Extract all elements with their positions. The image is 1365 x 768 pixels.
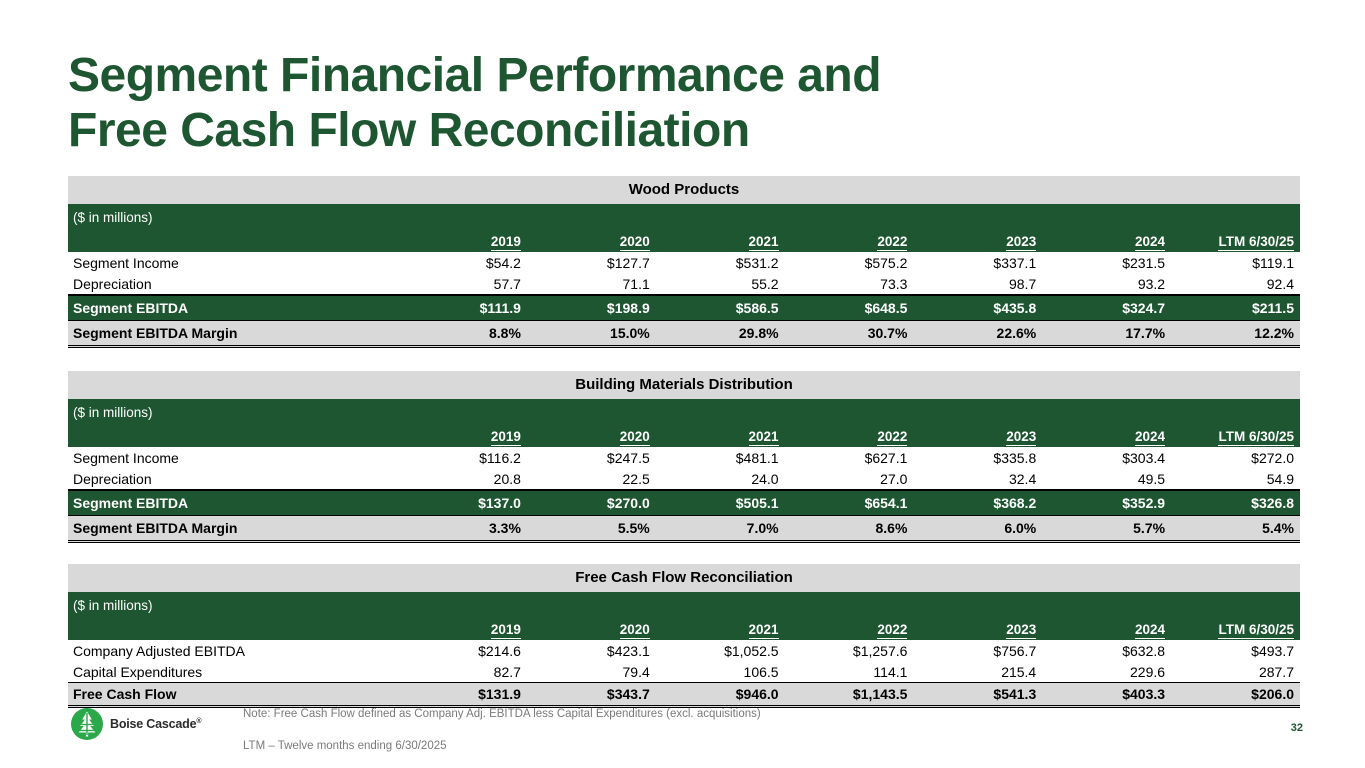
column-header-2022: 2022 — [785, 425, 914, 447]
cell-value: $352.9 — [1042, 490, 1171, 516]
units-label: ($ in millions) — [68, 399, 1300, 425]
column-header-label: 2020 — [620, 234, 650, 251]
column-header-2021: 2021 — [656, 230, 785, 252]
column-header-label: 2022 — [877, 234, 907, 251]
cell-value: $116.2 — [398, 447, 527, 468]
cell-value: 12.2% — [1171, 321, 1300, 347]
cell-value: 22.5 — [527, 468, 656, 490]
section-header-free-cash-flow-reconciliation: Free Cash Flow Reconciliation — [68, 564, 1300, 592]
financial-table-wood-products: ($ in millions)201920202021202220232024L… — [68, 204, 1300, 348]
cell-value: $214.6 — [398, 640, 527, 661]
cell-value: $247.5 — [527, 447, 656, 468]
column-header-label: 2023 — [1006, 429, 1036, 446]
cell-value: $326.8 — [1171, 490, 1300, 516]
cell-value: $127.7 — [527, 252, 656, 273]
table-row: Capital Expenditures82.779.4106.5114.121… — [68, 661, 1300, 683]
cell-value: 229.6 — [1042, 661, 1171, 683]
units-label: ($ in millions) — [68, 592, 1300, 618]
cell-value: $270.0 — [527, 490, 656, 516]
column-header-label: 2024 — [1135, 622, 1165, 639]
column-header-label: LTM 6/30/25 — [1218, 429, 1294, 446]
cell-value: 22.6% — [913, 321, 1042, 347]
cell-value: 114.1 — [785, 661, 914, 683]
cell-value: $648.5 — [785, 295, 914, 321]
cell-value: 73.3 — [785, 273, 914, 295]
cell-value: 54.9 — [1171, 468, 1300, 490]
cell-value: $335.8 — [913, 447, 1042, 468]
cell-value: $946.0 — [656, 683, 785, 707]
cell-value: 32.4 — [913, 468, 1042, 490]
cell-value: 30.7% — [785, 321, 914, 347]
row-label-segment-ebitda: Segment EBITDA — [68, 295, 398, 321]
cell-value: $1,257.6 — [785, 640, 914, 661]
column-header-2021: 2021 — [656, 618, 785, 640]
cell-value: $111.9 — [398, 295, 527, 321]
section-header-wood-products: Wood Products — [68, 176, 1300, 204]
table-column-header-row: 201920202021202220232024LTM 6/30/25 — [68, 425, 1300, 447]
cell-value: 29.8% — [656, 321, 785, 347]
column-header-label: 2019 — [491, 622, 521, 639]
column-header-2022: 2022 — [785, 618, 914, 640]
page-title: Segment Financial Performance and Free C… — [68, 48, 881, 158]
column-header-2019: 2019 — [398, 230, 527, 252]
table-column-header-row: 201920202021202220232024LTM 6/30/25 — [68, 618, 1300, 640]
cell-value: $575.2 — [785, 252, 914, 273]
cell-value: $505.1 — [656, 490, 785, 516]
cell-value: $654.1 — [785, 490, 914, 516]
cell-value: $403.3 — [1042, 683, 1171, 707]
cell-value: $303.4 — [1042, 447, 1171, 468]
column-header-2024: 2024 — [1042, 230, 1171, 252]
column-header-label: 2019 — [491, 429, 521, 446]
section-header-building-materials-distribution: Building Materials Distribution — [68, 371, 1300, 399]
cell-value: 93.2 — [1042, 273, 1171, 295]
column-header-2019: 2019 — [398, 425, 527, 447]
table-row: Free Cash Flow$131.9$343.7$946.0$1,143.5… — [68, 683, 1300, 707]
column-header-ltm-6-30-25: LTM 6/30/25 — [1171, 618, 1300, 640]
cell-value: 55.2 — [656, 273, 785, 295]
column-header-2022: 2022 — [785, 230, 914, 252]
cell-value: $272.0 — [1171, 447, 1300, 468]
column-header-spacer — [68, 230, 398, 252]
cell-value: 215.4 — [913, 661, 1042, 683]
column-header-label: 2022 — [877, 622, 907, 639]
column-header-2024: 2024 — [1042, 618, 1171, 640]
brand-name: Boise Cascade® — [110, 717, 201, 731]
column-header-label: 2022 — [877, 429, 907, 446]
footnote-ltm-definition: LTM – Twelve months ending 6/30/2025 — [243, 740, 447, 752]
page-number: 32 — [1291, 722, 1303, 734]
table-row: Segment EBITDA Margin8.8%15.0%29.8%30.7%… — [68, 321, 1300, 347]
table-column-header-row: 201920202021202220232024LTM 6/30/25 — [68, 230, 1300, 252]
cell-value: 20.8 — [398, 468, 527, 490]
cell-value: $231.5 — [1042, 252, 1171, 273]
cell-value: $131.9 — [398, 683, 527, 707]
table-units-row: ($ in millions) — [68, 399, 1300, 425]
column-header-2020: 2020 — [527, 425, 656, 447]
row-label-capital-expenditures: Capital Expenditures — [68, 661, 398, 683]
column-header-label: 2019 — [491, 234, 521, 251]
column-header-2020: 2020 — [527, 618, 656, 640]
column-header-2020: 2020 — [527, 230, 656, 252]
column-header-ltm-6-30-25: LTM 6/30/25 — [1171, 230, 1300, 252]
cell-value: $206.0 — [1171, 683, 1300, 707]
cell-value: 8.8% — [398, 321, 527, 347]
column-header-2023: 2023 — [913, 425, 1042, 447]
cell-value: 106.5 — [656, 661, 785, 683]
cell-value: $119.1 — [1171, 252, 1300, 273]
cell-value: $423.1 — [527, 640, 656, 661]
cell-value: 8.6% — [785, 516, 914, 542]
column-header-spacer — [68, 618, 398, 640]
cell-value: 27.0 — [785, 468, 914, 490]
table-row: Company Adjusted EBITDA$214.6$423.1$1,05… — [68, 640, 1300, 661]
cell-value: $541.3 — [913, 683, 1042, 707]
financial-table-building-materials-distribution: ($ in millions)201920202021202220232024L… — [68, 399, 1300, 543]
financial-table-free-cash-flow-reconciliation: ($ in millions)201920202021202220232024L… — [68, 592, 1300, 708]
column-header-label: 2024 — [1135, 234, 1165, 251]
cell-value: $343.7 — [527, 683, 656, 707]
row-label-segment-ebitda: Segment EBITDA — [68, 490, 398, 516]
cell-value: $337.1 — [913, 252, 1042, 273]
cell-value: $1,052.5 — [656, 640, 785, 661]
cell-value: $481.1 — [656, 447, 785, 468]
units-label: ($ in millions) — [68, 204, 1300, 230]
cell-value: $586.5 — [656, 295, 785, 321]
column-header-label: LTM 6/30/25 — [1218, 234, 1294, 251]
column-header-2021: 2021 — [656, 425, 785, 447]
column-header-label: 2021 — [749, 429, 779, 446]
section-wood-products: Wood Products($ in millions)201920202021… — [68, 176, 1300, 348]
cell-value: 3.3% — [398, 516, 527, 542]
cell-value: 6.0% — [913, 516, 1042, 542]
column-header-label: 2020 — [620, 622, 650, 639]
cell-value: 5.4% — [1171, 516, 1300, 542]
table-row: Segment Income$116.2$247.5$481.1$627.1$3… — [68, 447, 1300, 468]
column-header-label: 2021 — [749, 234, 779, 251]
cell-value: $324.7 — [1042, 295, 1171, 321]
cell-value: 82.7 — [398, 661, 527, 683]
brand-logo: Boise Cascade® — [70, 707, 201, 741]
cell-value: 287.7 — [1171, 661, 1300, 683]
cell-value: 24.0 — [656, 468, 785, 490]
column-header-2024: 2024 — [1042, 425, 1171, 447]
column-header-spacer — [68, 425, 398, 447]
cell-value: 92.4 — [1171, 273, 1300, 295]
cell-value: 7.0% — [656, 516, 785, 542]
row-label-segment-income: Segment Income — [68, 447, 398, 468]
table-row: Segment EBITDA Margin3.3%5.5%7.0%8.6%6.0… — [68, 516, 1300, 542]
cell-value: 15.0% — [527, 321, 656, 347]
cell-value: 49.5 — [1042, 468, 1171, 490]
row-label-segment-income: Segment Income — [68, 252, 398, 273]
column-header-label: 2023 — [1006, 234, 1036, 251]
cell-value: $137.0 — [398, 490, 527, 516]
cell-value: $493.7 — [1171, 640, 1300, 661]
cell-value: 5.5% — [527, 516, 656, 542]
table-units-row: ($ in millions) — [68, 592, 1300, 618]
row-label-depreciation: Depreciation — [68, 468, 398, 490]
cell-value: $531.2 — [656, 252, 785, 273]
cell-value: $756.7 — [913, 640, 1042, 661]
table-row: Depreciation57.771.155.273.398.793.292.4 — [68, 273, 1300, 295]
cell-value: $1,143.5 — [785, 683, 914, 707]
cell-value: 71.1 — [527, 273, 656, 295]
cell-value: 98.7 — [913, 273, 1042, 295]
table-row: Segment Income$54.2$127.7$531.2$575.2$33… — [68, 252, 1300, 273]
row-label-company-adjusted-ebitda: Company Adjusted EBITDA — [68, 640, 398, 661]
cell-value: 79.4 — [527, 661, 656, 683]
column-header-label: 2020 — [620, 429, 650, 446]
table-row: Depreciation20.822.524.027.032.449.554.9 — [68, 468, 1300, 490]
footnote-free-cash-flow-definition: Note: Free Cash Flow defined as Company … — [243, 708, 761, 720]
cell-value: 57.7 — [398, 273, 527, 295]
cell-value: $627.1 — [785, 447, 914, 468]
section-free-cash-flow-reconciliation: Free Cash Flow Reconciliation($ in milli… — [68, 564, 1300, 708]
column-header-label: LTM 6/30/25 — [1218, 622, 1294, 639]
column-header-label: 2021 — [749, 622, 779, 639]
cell-value: $435.8 — [913, 295, 1042, 321]
cell-value: $368.2 — [913, 490, 1042, 516]
section-building-materials-distribution: Building Materials Distribution($ in mil… — [68, 371, 1300, 543]
cell-value: $54.2 — [398, 252, 527, 273]
table-units-row: ($ in millions) — [68, 204, 1300, 230]
table-row: Segment EBITDA$111.9$198.9$586.5$648.5$4… — [68, 295, 1300, 321]
cell-value: $632.8 — [1042, 640, 1171, 661]
cell-value: 5.7% — [1042, 516, 1171, 542]
cell-value: $198.9 — [527, 295, 656, 321]
column-header-label: 2023 — [1006, 622, 1036, 639]
table-row: Segment EBITDA$137.0$270.0$505.1$654.1$3… — [68, 490, 1300, 516]
cell-value: 17.7% — [1042, 321, 1171, 347]
cell-value: $211.5 — [1171, 295, 1300, 321]
column-header-label: 2024 — [1135, 429, 1165, 446]
row-label-free-cash-flow: Free Cash Flow — [68, 683, 398, 707]
tree-logo-icon — [70, 707, 104, 741]
column-header-2023: 2023 — [913, 230, 1042, 252]
column-header-2023: 2023 — [913, 618, 1042, 640]
column-header-2019: 2019 — [398, 618, 527, 640]
row-label-depreciation: Depreciation — [68, 273, 398, 295]
column-header-ltm-6-30-25: LTM 6/30/25 — [1171, 425, 1300, 447]
row-label-segment-ebitda-margin: Segment EBITDA Margin — [68, 321, 398, 347]
row-label-segment-ebitda-margin: Segment EBITDA Margin — [68, 516, 398, 542]
